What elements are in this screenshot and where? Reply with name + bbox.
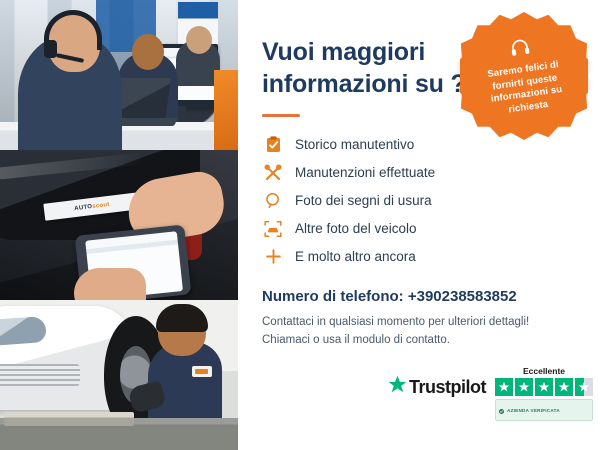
verified-check-icon [499, 401, 504, 419]
clipboard-check-icon [262, 134, 284, 156]
feature-item-foto-segni-usura: Foto dei segni di usura [262, 187, 576, 214]
feature-label: Altre foto del veicolo [295, 221, 417, 236]
mechanic-uniform-badge [192, 366, 212, 377]
sticker-logo-text: AUTOscout [74, 201, 110, 211]
wheel-service-photo [0, 300, 238, 450]
trustpilot-star-icon [388, 375, 407, 399]
photo-column: AUTOscout [0, 0, 238, 450]
content-panel: Vuoi maggiori informazioni su ? Storico … [238, 0, 600, 450]
contact-copy-line-2: Chiamaci o usa il modulo di contatto. [262, 334, 450, 346]
verified-badge: AZIENDA VERIFICATA [495, 399, 593, 421]
feature-item-manutenzioni-effettuate: Manutenzioni effettuate [262, 159, 576, 186]
magnifier-icon [262, 190, 284, 212]
feature-label: Foto dei segni di usura [295, 193, 432, 208]
feature-label: Manutenzioni effettuate [295, 165, 435, 180]
stars-row [495, 378, 593, 396]
trustpilot-rating: Eccellente [495, 366, 593, 421]
star-filled [515, 378, 533, 396]
page-title: Vuoi maggiori informazioni su ? [262, 36, 477, 100]
rating-label: Eccellente [523, 366, 565, 376]
feature-label: Storico manutentivo [295, 137, 414, 152]
title-underline-rule [262, 114, 300, 117]
car-lift-platform [4, 412, 134, 426]
star-filled [535, 378, 553, 396]
headset-earcup [44, 40, 57, 58]
contact-copy-line-1: Contattaci in qualsiasi momento per ulte… [262, 316, 529, 328]
burst-content: Saremo felici di fornirti queste informa… [452, 4, 597, 149]
promo-badge-text: Saremo felici di fornirti queste informa… [480, 58, 572, 120]
star-partial [575, 378, 593, 396]
car-grille [0, 364, 80, 386]
phone-line: Numero di telefono: +390238583852 [262, 288, 576, 305]
trustpilot-wordmark: Trustpilot [409, 377, 486, 398]
feature-list: Storico manutentivo Manutenzioni effettu… [262, 131, 576, 270]
promo-badge: Saremo felici di fornirti queste informa… [460, 12, 588, 140]
verified-badge-text: AZIENDA VERIFICATA [507, 408, 560, 413]
phone-label: Numero di telefono: [262, 288, 404, 305]
feature-item-molto-altro: E molto altro ancora [262, 243, 576, 270]
background-worker-1-head [132, 34, 164, 70]
orange-shelf-edge [214, 70, 238, 150]
inspection-tablet-photo: AUTOscout [0, 150, 238, 300]
call-centre-photo [0, 0, 238, 150]
star-filled [555, 378, 573, 396]
car-headlight [0, 316, 47, 346]
advertisement-card: AUTOscout Vuoi maggiori informazioni s [0, 0, 600, 450]
inspector-hand-lower [74, 268, 146, 300]
tools-cross-icon [262, 162, 284, 184]
contact-copy: Contattaci in qualsiasi momento per ulte… [262, 314, 562, 350]
car-focus-icon [262, 218, 284, 240]
star-filled [495, 378, 513, 396]
trustpilot-block: Trustpilot Eccellente [388, 366, 593, 421]
plus-icon [262, 246, 284, 268]
phone-number[interactable]: +390238583852 [408, 288, 517, 305]
background-worker-2-head [186, 26, 212, 54]
trustpilot-logo: Trustpilot [388, 375, 486, 399]
car-body-highlight [0, 152, 146, 180]
feature-label: E molto altro ancora [295, 249, 416, 264]
headset-icon [509, 37, 532, 64]
feature-item-altre-foto-veicolo: Altre foto del veicolo [262, 215, 576, 242]
